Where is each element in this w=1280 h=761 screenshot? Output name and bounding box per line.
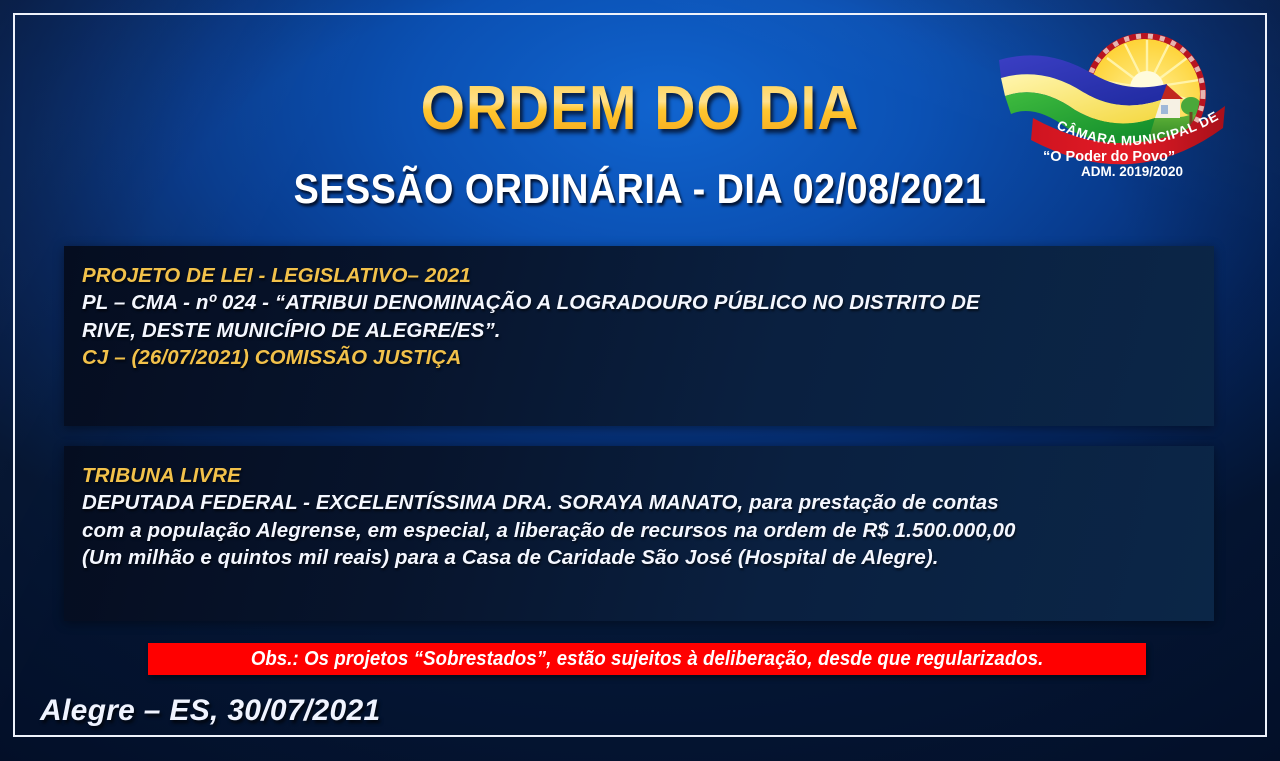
projeto-commission: CJ – (26/07/2021) COMISSÃO JUSTIÇA (82, 344, 1198, 371)
projeto-line-1: PL – CMA - nº 024 - “ATRIBUI DENOMINAÇÃO… (82, 289, 1198, 316)
content-box-tribuna-livre: TRIBUNA LIVRE DEPUTADA FEDERAL - EXCELEN… (64, 446, 1214, 621)
projeto-heading: PROJETO DE LEI - LEGISLATIVO– 2021 (82, 262, 1198, 289)
ordem-do-dia-poster: ORDEM DO DIA SESSÃO ORDINÁRIA - DIA 02/0… (0, 0, 1280, 761)
tribuna-line-1: DEPUTADA FEDERAL - EXCELENTÍSSIMA DRA. S… (82, 489, 1198, 516)
camara-municipal-logo: CÂMARA MUNICIPAL DE ALEGRE - ES “O Poder… (985, 22, 1230, 182)
tribuna-line-3: (Um milhão e quintos mil reais) para a C… (82, 544, 1198, 571)
content-box-projeto-de-lei: PROJETO DE LEI - LEGISLATIVO– 2021 PL – … (64, 246, 1214, 426)
projeto-line-2: RIVE, DESTE MUNICÍPIO DE ALEGRE/ES”. (82, 317, 1198, 344)
footer-place-date: Alegre – ES, 30/07/2021 (40, 694, 380, 728)
tribuna-line-2: com a população Alegrense, em especial, … (82, 517, 1198, 544)
observation-text: Obs.: Os projetos “Sobrestados”, estão s… (251, 648, 1044, 671)
tribuna-heading: TRIBUNA LIVRE (82, 462, 1198, 489)
logo-motto: “O Poder do Povo” (1043, 149, 1175, 165)
logo-administration: ADM. 2019/2020 (1081, 164, 1183, 179)
observation-banner: Obs.: Os projetos “Sobrestados”, estão s… (148, 643, 1146, 675)
